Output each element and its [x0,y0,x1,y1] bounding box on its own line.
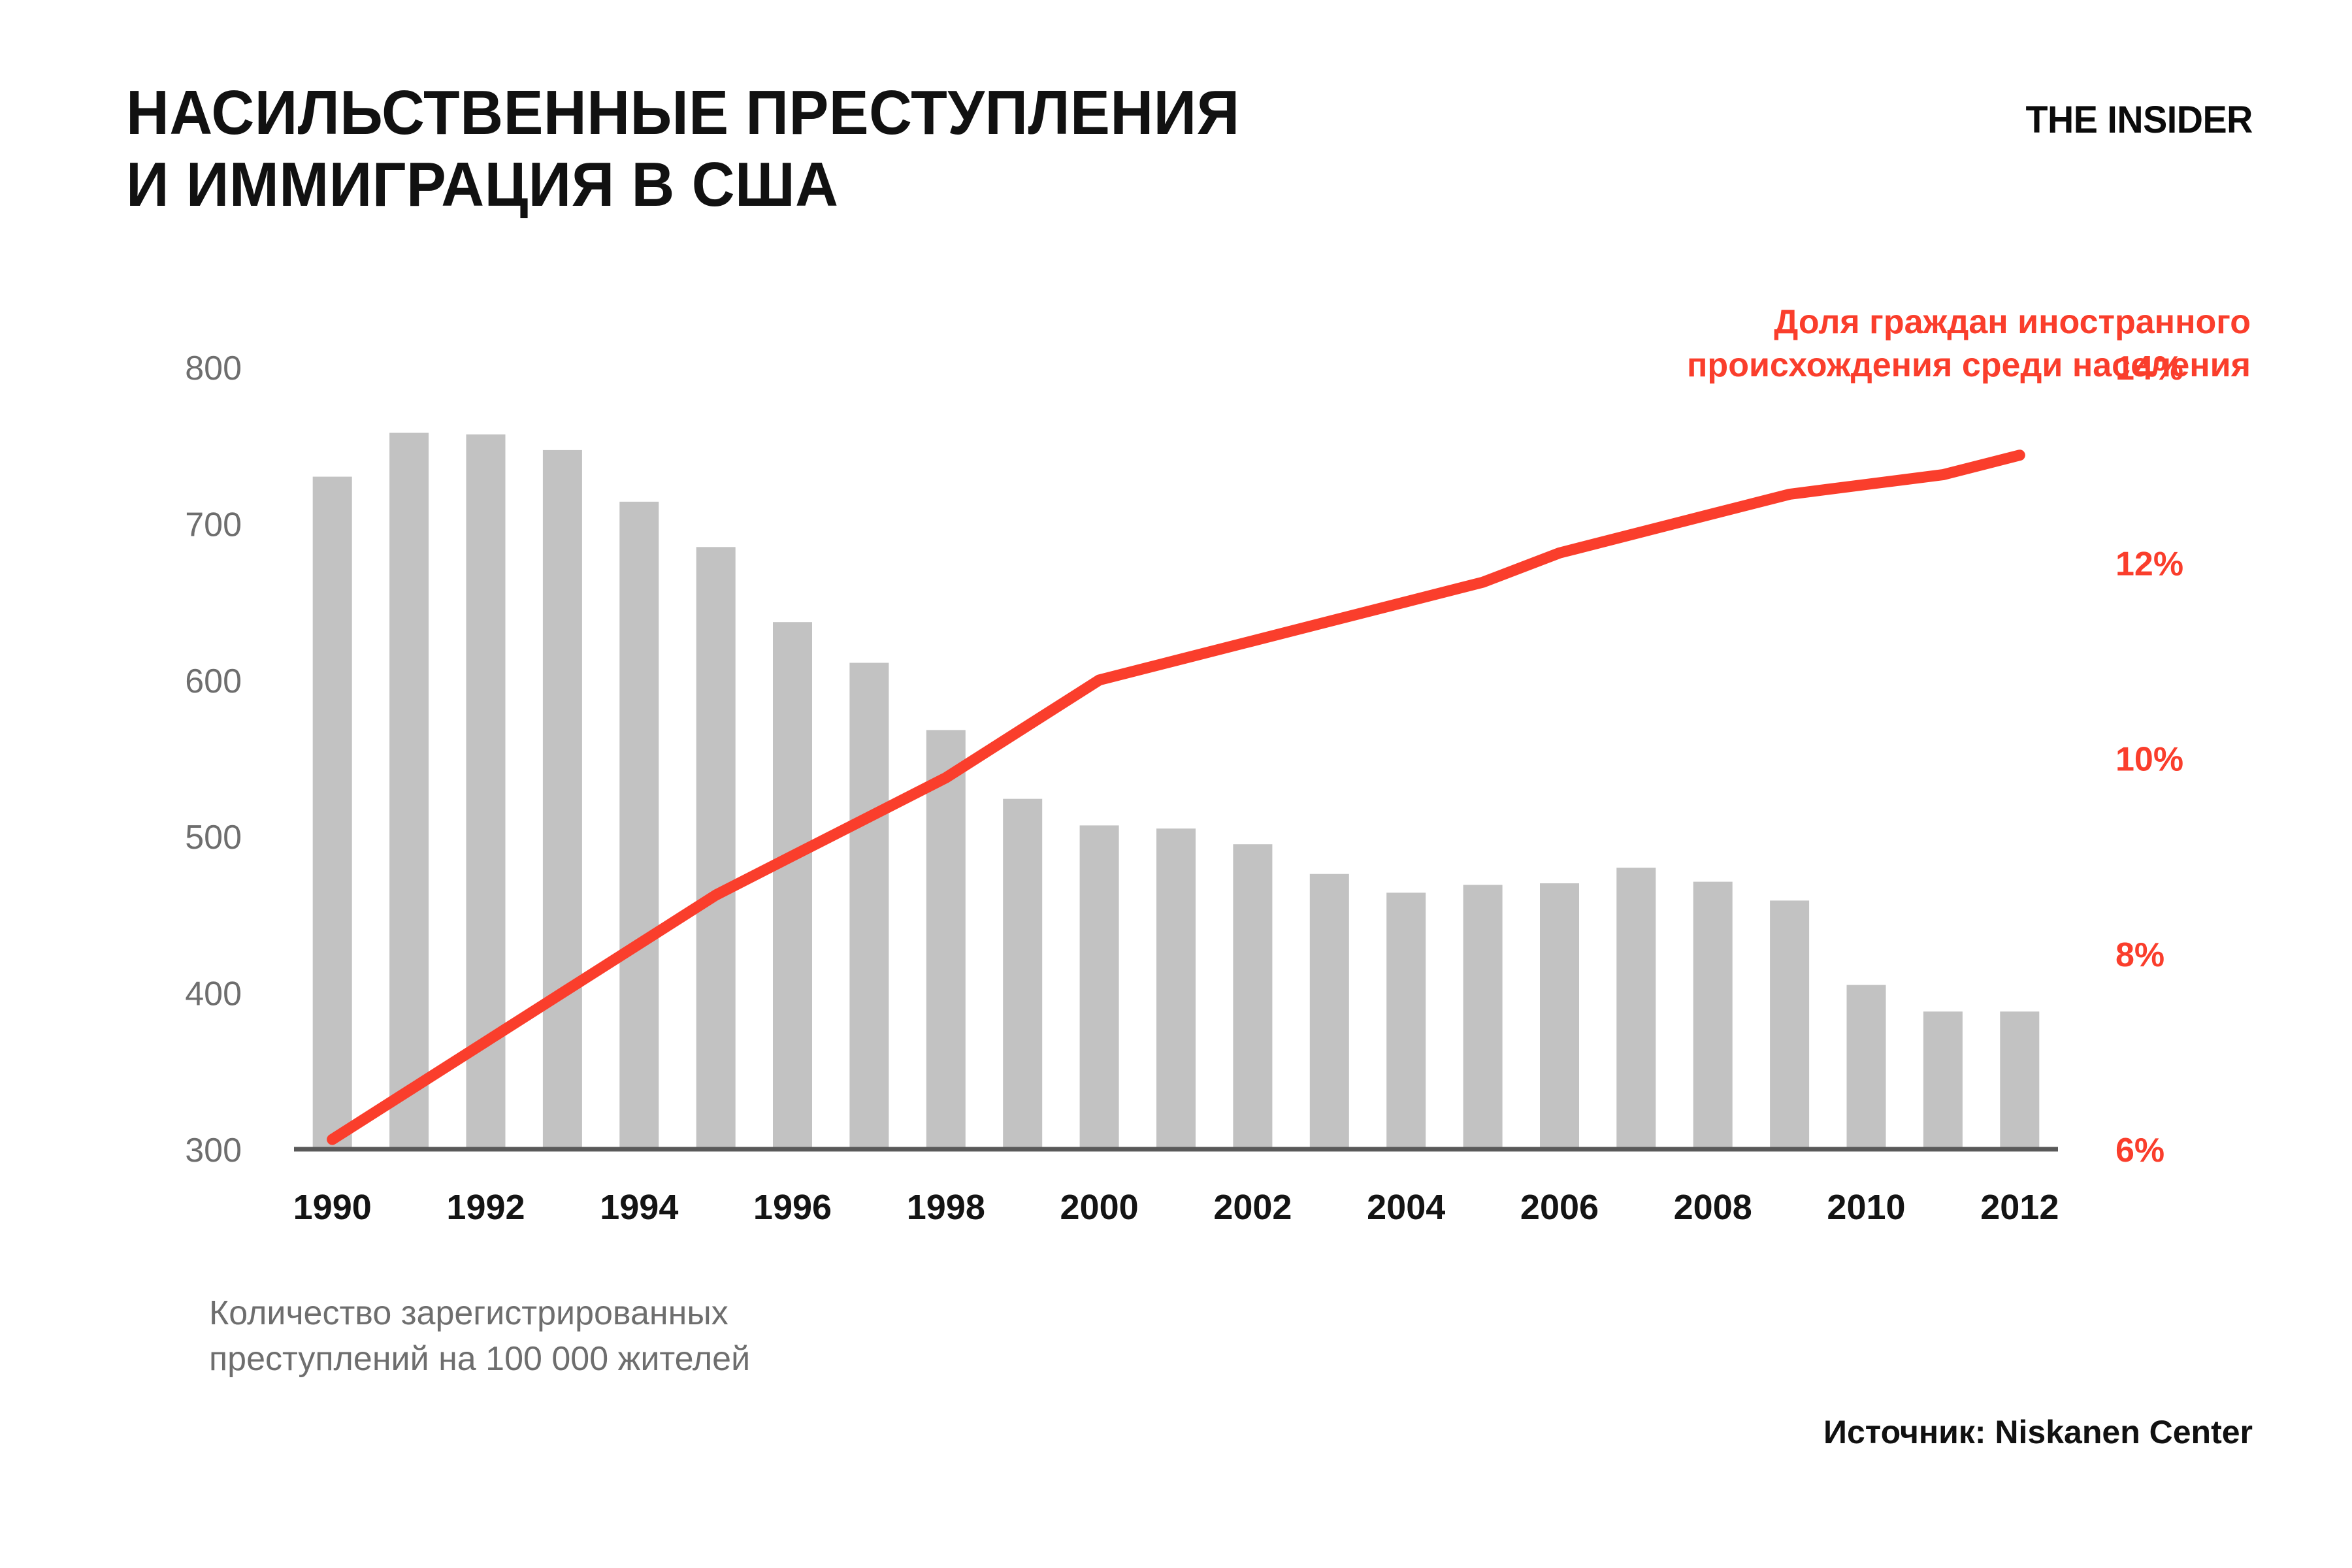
x-tick-2000: 2000 [1060,1188,1139,1227]
x-tick-2012: 2012 [1980,1188,2059,1227]
bar-2011 [1923,1011,1963,1149]
infographic-page: НАСИЛЬСТВЕННЫЕ ПРЕСТУПЛЕНИЯ И ИММИГРАЦИЯ… [0,0,2352,1568]
bar-1994 [619,502,659,1149]
bar-2001 [1156,828,1196,1149]
y-tick-left-500: 500 [185,819,242,857]
bar-2008 [1693,882,1733,1149]
x-tick-1996: 1996 [753,1188,832,1227]
bar-2012 [2000,1011,2039,1149]
y-tick-right-12pct: 12% [2115,545,2183,583]
bar-2007 [1616,868,1656,1149]
bar-2006 [1540,883,1579,1149]
axis-caption-crime-rate: Количество зарегистрированных преступлен… [209,1290,1058,1382]
bar-1999 [1003,799,1042,1149]
y-axis-left-ticks: 300400500600700800 [185,350,242,1169]
bar-2010 [1847,985,1886,1149]
y-tick-left-400: 400 [185,975,242,1013]
bar-2009 [1770,900,1809,1149]
x-tick-2002: 2002 [1213,1188,1292,1227]
chart-container: 300400500600700800 6%8%10%12%14% 1990199… [0,0,2352,1568]
legend-immigration-share: Доля граждан иностранного происхождения … [1401,301,2251,387]
x-tick-1994: 1994 [600,1188,678,1227]
y-axis-right-ticks: 6%8%10%12%14% [2115,350,2183,1169]
y-tick-left-800: 800 [185,350,242,387]
x-tick-1990: 1990 [293,1188,372,1227]
x-tick-2006: 2006 [1520,1188,1599,1227]
bars-group [313,433,2040,1150]
y-tick-right-8pct: 8% [2115,936,2164,974]
bar-2002 [1233,844,1272,1149]
bar-2005 [1463,885,1503,1149]
y-tick-right-6pct: 6% [2115,1132,2164,1169]
bar-2004 [1386,892,1426,1149]
y-tick-left-600: 600 [185,662,242,700]
bar-1991 [389,433,429,1150]
x-tick-1998: 1998 [907,1188,985,1227]
bar-1997 [849,663,889,1150]
bar-1993 [543,450,582,1149]
bar-1998 [926,730,966,1149]
source-note: Источник: Niskanen Center [1823,1413,2253,1451]
x-tick-1992: 1992 [446,1188,525,1227]
bar-1996 [773,622,812,1149]
x-tick-2008: 2008 [1674,1188,1752,1227]
y-tick-right-10pct: 10% [2115,741,2183,779]
x-axis-ticks: 1990199219941996199820002002200420062008… [293,1188,2059,1227]
y-tick-left-300: 300 [185,1132,242,1169]
bar-1995 [696,547,736,1149]
bar-2003 [1310,874,1349,1149]
bar-2000 [1080,825,1119,1149]
x-tick-2004: 2004 [1367,1188,1445,1227]
x-tick-2010: 2010 [1827,1188,1905,1227]
bar-1990 [313,477,352,1149]
y-tick-left-700: 700 [185,506,242,544]
